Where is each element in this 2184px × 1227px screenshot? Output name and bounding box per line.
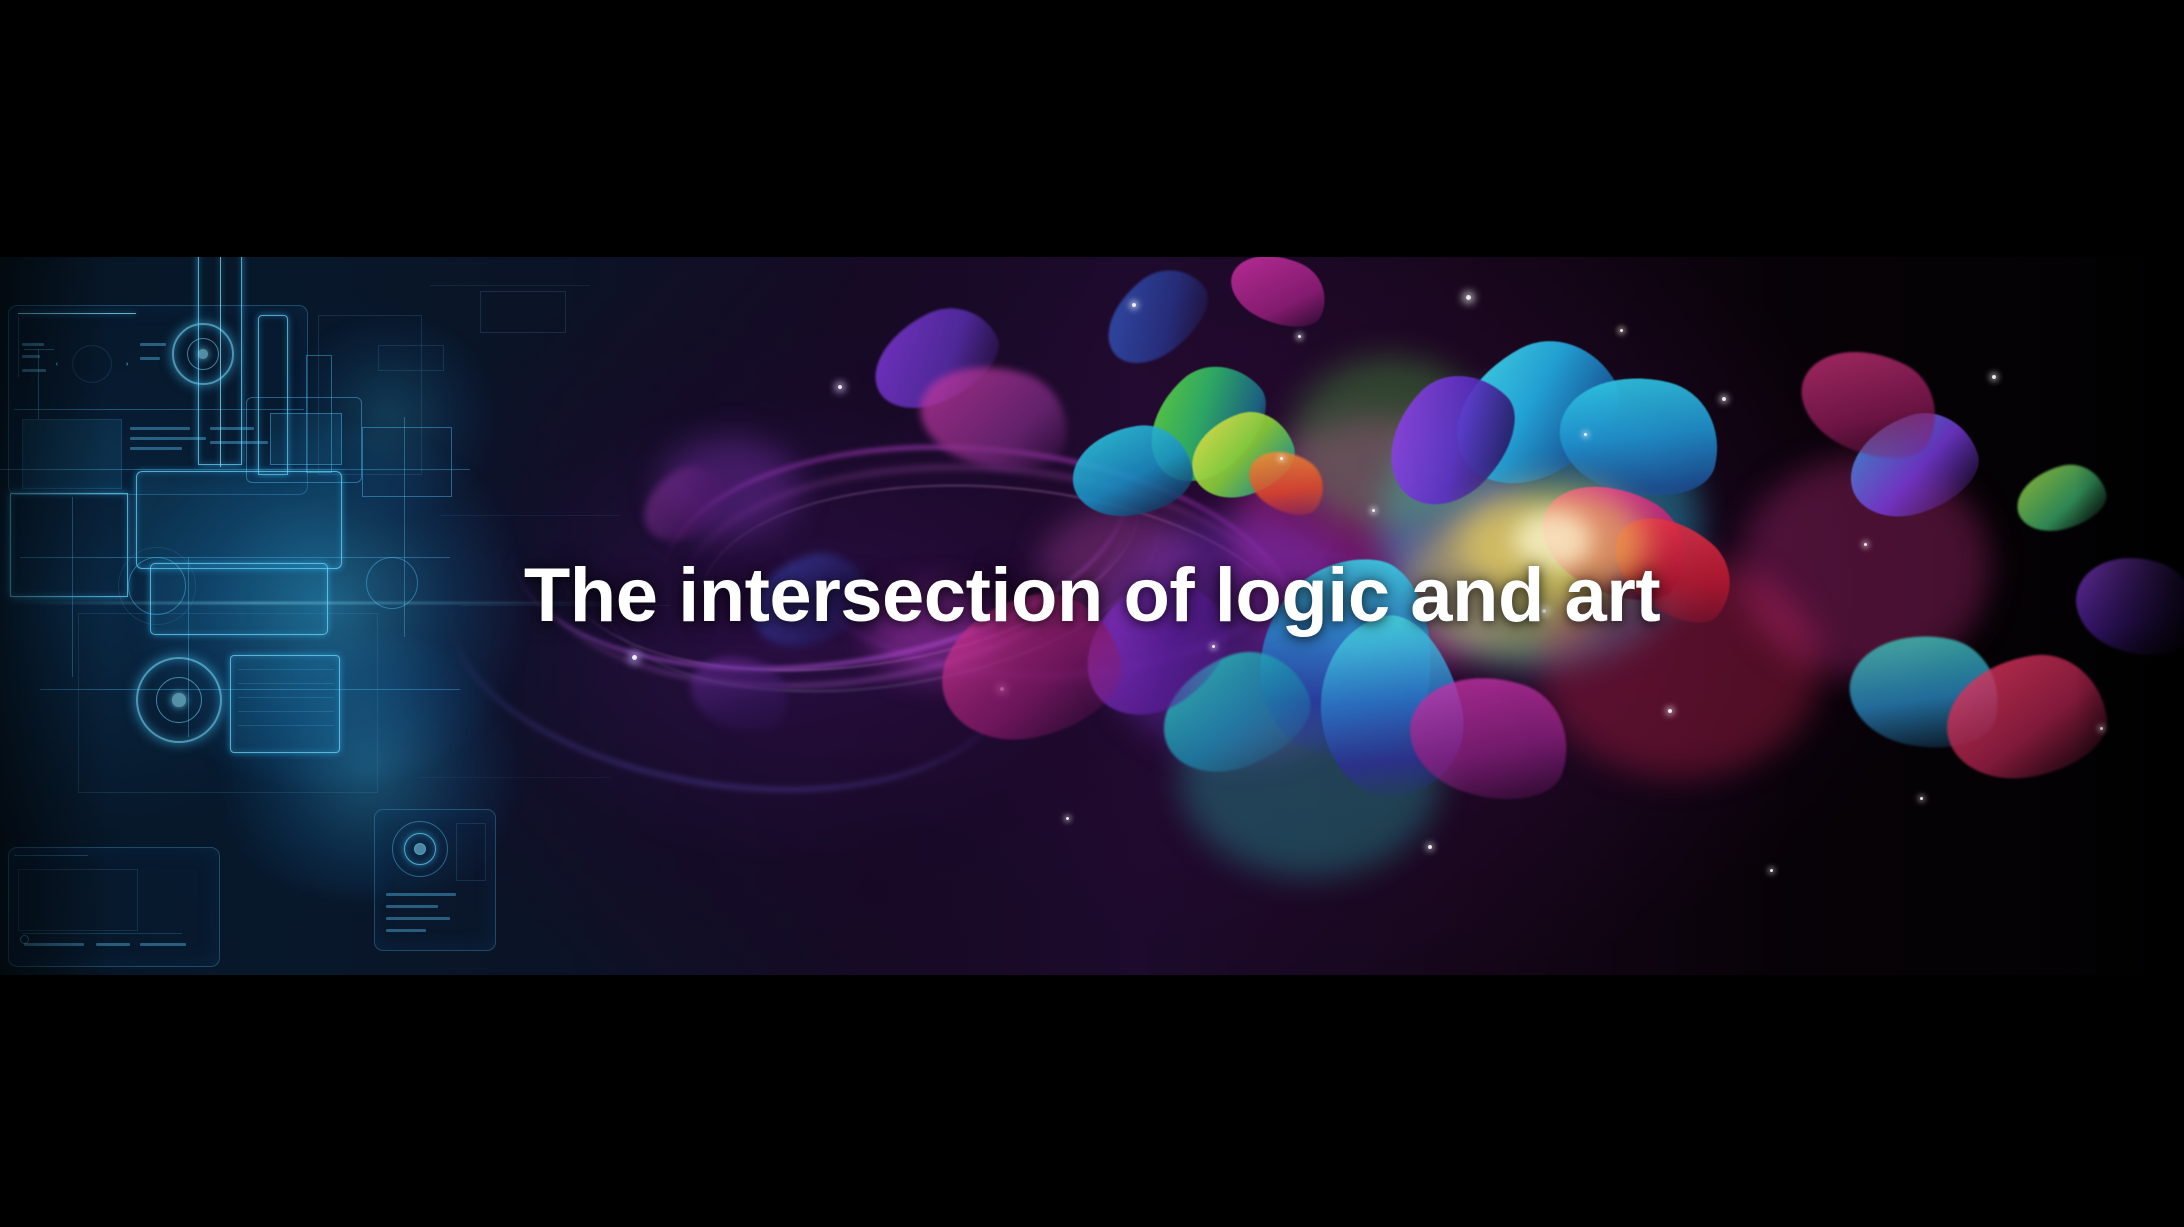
hud-subpanel-lowerleft [22, 419, 122, 489]
sparkle-m [1066, 817, 1069, 820]
sparkle-c [1466, 295, 1471, 300]
thin-frame-upper-b [378, 345, 444, 371]
ladder-rung-4 [238, 711, 334, 712]
sparkle-a [1132, 303, 1136, 307]
sparkle-o [1770, 869, 1773, 872]
hud-datarow-2 [130, 437, 206, 440]
sparkle-k [1992, 375, 1996, 379]
sparkle-j [1864, 543, 1867, 546]
hud-hex-inner-ring [72, 345, 112, 383]
lower-gear-large [136, 657, 222, 743]
letterbox-bar-bottom [0, 975, 2184, 1227]
hud-panel-topleft-divider [18, 317, 19, 377]
disc-hub [414, 843, 426, 855]
hud-datarow-1 [130, 427, 190, 430]
tower-antenna [38, 349, 39, 419]
disc-card-row-1 [386, 893, 456, 896]
hud-datarow-3 [130, 447, 182, 450]
hud-console-screen [18, 869, 138, 931]
sparkle-d [1620, 329, 1623, 332]
ladder-rung-3 [238, 697, 334, 698]
sparkle-i [1668, 709, 1672, 713]
hud-console-baseline [22, 933, 182, 934]
page-title: The intersection of logic and art [0, 558, 2184, 634]
sparkle-q [1584, 433, 1587, 436]
ladder-rung-1 [238, 669, 334, 670]
hud-console-row-1 [24, 943, 84, 946]
petal-magenta-top [1221, 257, 1337, 340]
hud-label-a [22, 343, 44, 346]
sparkle-p [1280, 457, 1283, 460]
petal-blue-upper [1089, 257, 1223, 380]
petal-green-right-small [2010, 457, 2112, 539]
disc-card-row-3 [386, 917, 450, 920]
ribbon-spark-1 [632, 655, 637, 660]
sparkle-r [1920, 797, 1923, 800]
ribbon-spark-2 [838, 385, 842, 389]
ladder-rung-2 [238, 683, 334, 684]
sparkle-h [1212, 645, 1215, 648]
hud-panel-topleft-headerline [18, 313, 136, 314]
sparkle-b [1298, 335, 1301, 338]
hud-console-headerline [14, 855, 88, 856]
pipe-horizontal-upper [0, 469, 470, 470]
hud-label-c [22, 369, 46, 372]
hud-console-row-3 [140, 943, 186, 946]
sparkle-e [1722, 397, 1726, 401]
ladder-rung-5 [238, 725, 334, 726]
hud-console-indicator [20, 935, 29, 944]
hud-label-e [140, 357, 160, 360]
tower-antenna-cap [24, 349, 54, 350]
sparkle-f [1372, 509, 1375, 512]
hud-console-row-2 [96, 943, 130, 946]
tower-column-tall-axis [220, 257, 221, 467]
screenshot-canvas: The intersection of logic and art [0, 0, 2184, 1227]
letterbox-bar-top [0, 0, 2184, 257]
machine-far-right-frame [318, 315, 422, 475]
sparkle-l [2100, 727, 2103, 730]
disc-card-row-4 [386, 929, 426, 932]
disc-card-row-2 [386, 905, 438, 908]
hud-label-d [140, 343, 166, 346]
sparkle-n [1428, 845, 1432, 849]
